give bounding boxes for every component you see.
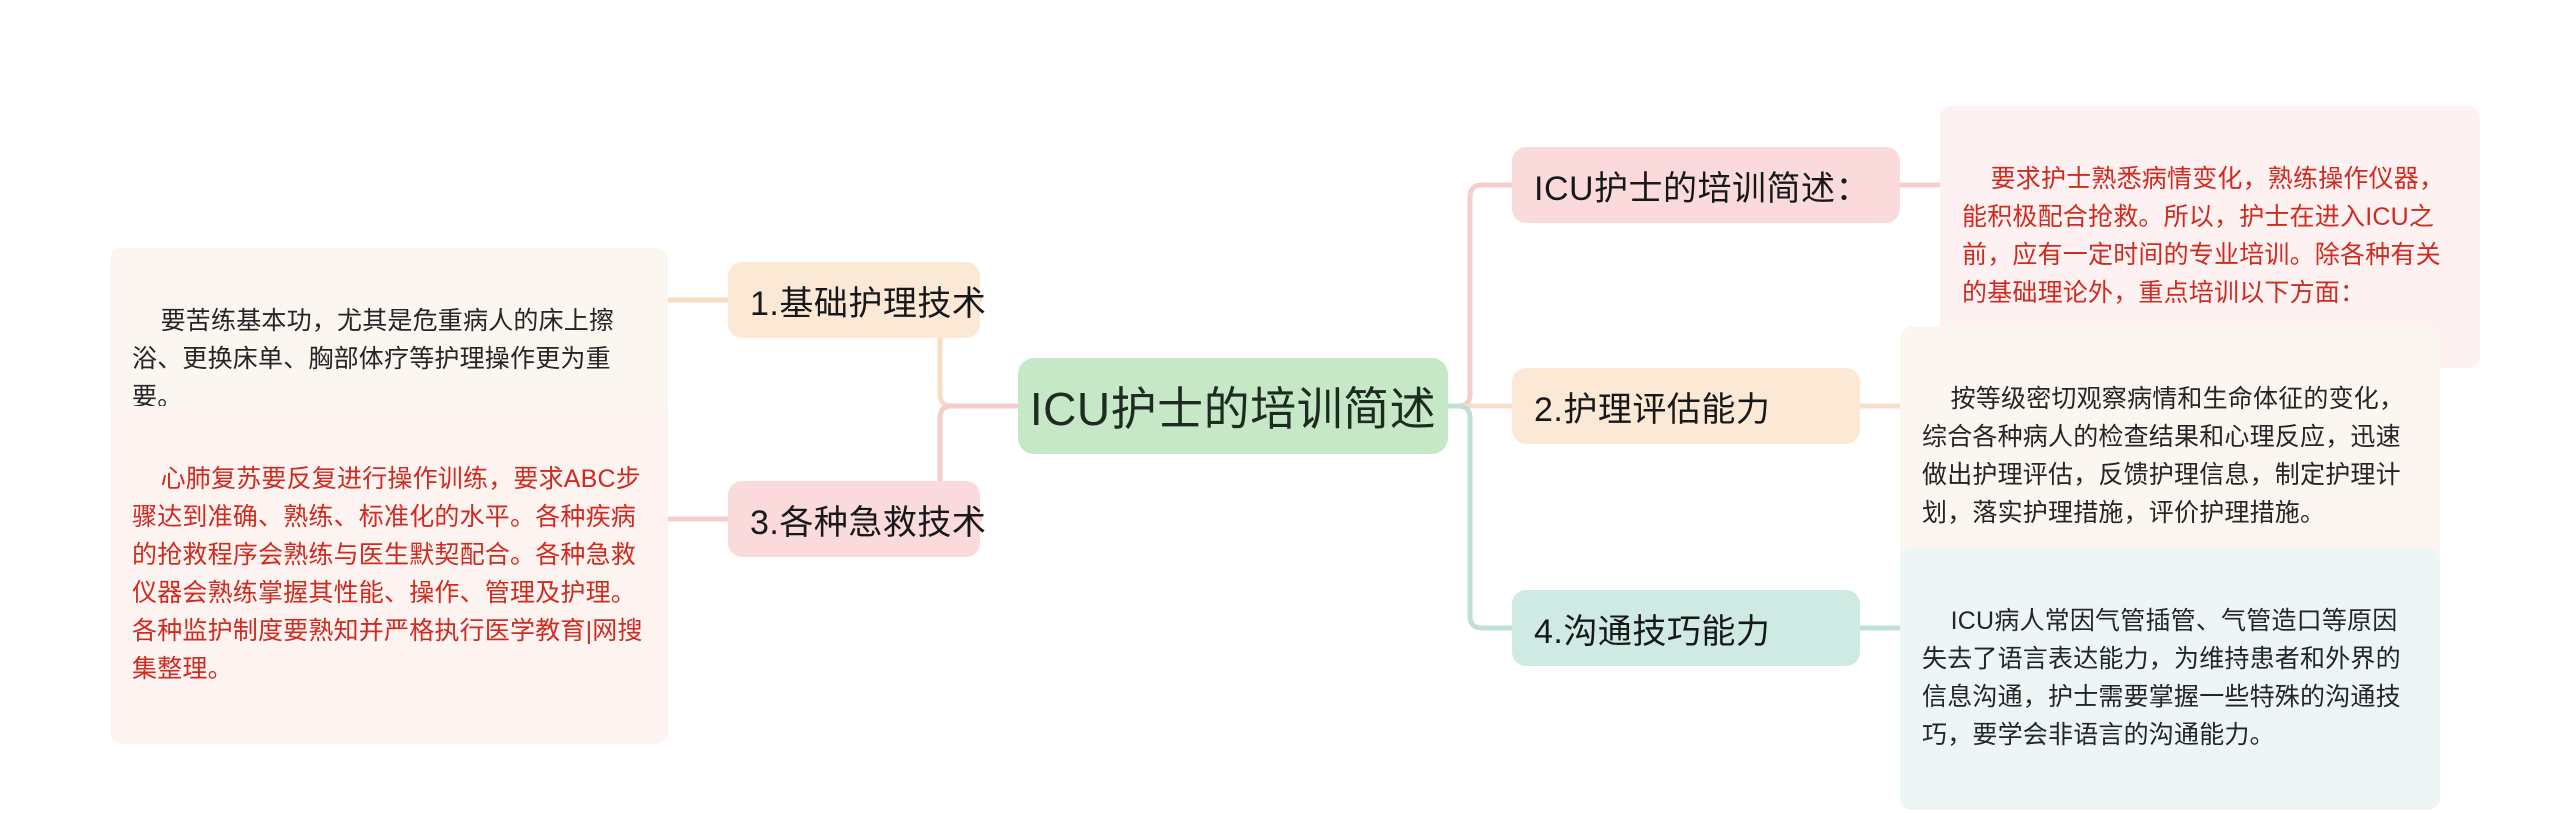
leaf-assessment-text: 按等级密切观察病情和生命体征的变化，综合各种病人的检查结果和心理反应，迅速做出护… [1922,385,2404,527]
leaf-basic-nursing-text: 要苦练基本功，尤其是危重病人的床上擦浴、更换床单、胸部体疗等护理操作更为重要。 [132,307,614,411]
branch-node-communication[interactable]: 4.沟通技巧能力 [1512,590,1860,666]
branch-node-emergency[interactable]: 3.各种急救技术 [728,481,980,557]
branch-node-assessment[interactable]: 2.护理评估能力 [1512,368,1860,444]
leaf-intro-text: 要求护士熟悉病情变化，熟练操作仪器，能积极配合抢救。所以，护士在进入ICU之前，… [1962,165,2444,307]
mindmap-canvas: ICU护士的培训简述 1.基础护理技术 3.各种急救技术 ICU护士的培训简述：… [0,0,2560,813]
branch-node-communication-label: 4.沟通技巧能力 [1534,604,1770,653]
connector-root-to-communication [1448,406,1512,628]
branch-node-assessment-label: 2.护理评估能力 [1534,382,1770,431]
root-node[interactable]: ICU护士的培训简述 [1018,358,1448,454]
branch-node-intro-label: ICU护士的培训简述： [1534,161,1870,210]
leaf-emergency: 心肺复苏要反复进行操作训练，要求ABC步骤达到准确、熟练、标准化的水平。各种疾病… [110,406,668,744]
branch-node-basic-nursing-label: 1.基础护理技术 [750,276,986,325]
branch-node-basic-nursing[interactable]: 1.基础护理技术 [728,262,980,338]
connector-root-to-intro [1448,185,1512,406]
branch-node-intro[interactable]: ICU护士的培训简述： [1512,147,1900,223]
root-node-label: ICU护士的培训简述 [1030,373,1436,439]
branch-node-emergency-label: 3.各种急救技术 [750,495,986,544]
leaf-communication-text: ICU病人常因气管插管、气管造口等原因失去了语言表达能力，为维持患者和外界的信息… [1922,607,2401,749]
leaf-communication: ICU病人常因气管插管、气管造口等原因失去了语言表达能力，为维持患者和外界的信息… [1900,548,2440,810]
leaf-emergency-text: 心肺复苏要反复进行操作训练，要求ABC步骤达到准确、熟练、标准化的水平。各种疾病… [132,465,643,683]
